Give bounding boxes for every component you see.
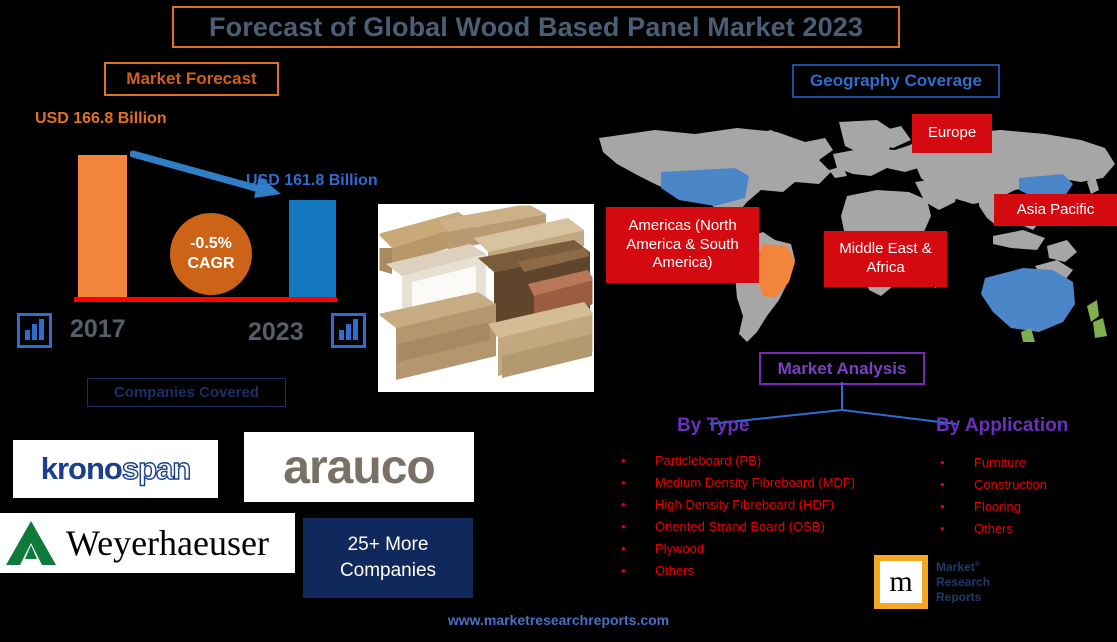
registered-mark: ® — [975, 561, 980, 568]
list-item: Medium Density Fibreboard (MDF) — [621, 472, 855, 494]
year-label-2017: 2017 — [70, 315, 126, 344]
by-application-heading: By Application — [936, 415, 1068, 437]
by-application-list: Furniture Construction Flooring Others — [940, 452, 1047, 540]
brand-logo-text: Market® Research Reports — [936, 560, 990, 605]
company-logo-kronospan: kronospan — [13, 440, 218, 498]
bar-chart-icon — [17, 313, 52, 348]
chart-baseline — [74, 297, 337, 302]
list-item: Others — [940, 518, 1047, 540]
list-item: Others — [621, 560, 855, 582]
cagr-value: -0.5% — [190, 234, 232, 254]
geography-heading-box: Geography Coverage — [792, 64, 1000, 98]
by-type-heading: By Type — [677, 415, 750, 437]
market-forecast-heading-box: Market Forecast — [104, 62, 279, 96]
bar-2023 — [289, 200, 336, 300]
arauco-logo-text: arauco — [283, 440, 434, 495]
by-type-list: Particleboard (PB) Medium Density Fibreb… — [621, 450, 855, 582]
market-forecast-heading: Market Forecast — [126, 69, 256, 89]
page-title-box: Forecast of Global Wood Based Panel Mark… — [172, 6, 900, 48]
footer-url[interactable]: www.marketresearchreports.com — [0, 612, 1117, 628]
list-item: Furniture — [940, 452, 1047, 474]
company-logo-arauco: arauco — [244, 432, 474, 502]
page-title: Forecast of Global Wood Based Panel Mark… — [209, 12, 863, 43]
brand-logo-line2: Research — [936, 575, 990, 590]
brand-logo-mark: m — [874, 555, 928, 609]
end-value-label: USD 161.8 Billion — [246, 172, 378, 190]
brand-logo-line1: Market® — [936, 560, 990, 575]
wood-panel-photo — [378, 204, 594, 392]
cagr-unit: CAGR — [187, 254, 234, 274]
kronospan-logo-text-hollow: span — [122, 451, 190, 487]
bar-chart-icon — [331, 313, 366, 348]
geo-label-middle-east-africa: Middle East & Africa — [824, 231, 947, 287]
green-triangle-tree-icon — [4, 519, 58, 567]
list-item: Construction — [940, 474, 1047, 496]
market-analysis-heading-box: Market Analysis — [759, 352, 925, 385]
infographic-canvas: Forecast of Global Wood Based Panel Mark… — [0, 0, 1117, 642]
brand-logo-line3: Reports — [936, 590, 990, 605]
market-analysis-heading: Market Analysis — [778, 359, 907, 379]
year-label-2023: 2023 — [248, 318, 304, 347]
geo-label-europe: Europe — [912, 114, 992, 153]
kronospan-logo-text-solid: krono — [41, 451, 122, 487]
bar-2017 — [78, 155, 127, 300]
geography-heading: Geography Coverage — [810, 71, 982, 91]
cagr-badge: -0.5% CAGR — [170, 213, 252, 295]
list-item: Particleboard (PB) — [621, 450, 855, 472]
geo-label-asia-pacific: Asia Pacific — [994, 194, 1117, 226]
geo-label-americas: Americas (North America & South America) — [606, 207, 759, 283]
weyerhaeuser-logo-text: Weyerhaeuser — [66, 522, 269, 564]
start-value-label: USD 166.8 Billion — [35, 110, 167, 128]
more-companies-tile: 25+ More Companies — [303, 518, 473, 598]
companies-covered-heading-box: Companies Covered — [87, 378, 286, 407]
list-item: High Density Fibreboard (HDF) — [621, 494, 855, 516]
brand-logo: m Market® Research Reports — [874, 553, 1022, 611]
list-item: Oriented Strand Board (OSB) — [621, 516, 855, 538]
list-item: Flooring — [940, 496, 1047, 518]
brand-logo-letter: m — [880, 561, 922, 603]
companies-covered-heading: Companies Covered — [114, 384, 259, 401]
list-item: Plywood — [621, 538, 855, 560]
company-logo-weyerhaeuser: Weyerhaeuser — [0, 513, 295, 573]
